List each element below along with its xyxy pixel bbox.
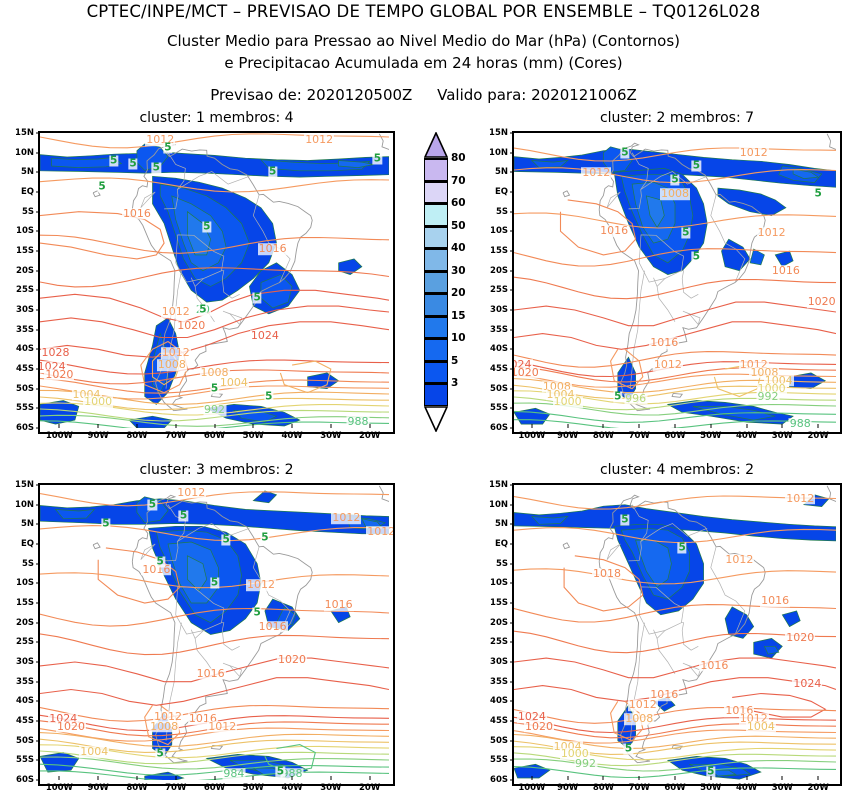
y-axis-tick <box>36 388 40 389</box>
x-axis-tick-label: 80W <box>593 431 614 441</box>
mslp-contour-line <box>40 733 389 747</box>
y-axis-tick <box>36 603 40 604</box>
colorbar-tick-label: 3 <box>451 377 458 389</box>
y-axis-tick-label: 25S <box>2 285 34 295</box>
country-border <box>607 544 620 560</box>
valid-for: Valido para: 2020121006Z <box>437 86 637 104</box>
colorbar-segment <box>424 226 448 249</box>
precipitation-shading <box>40 491 389 780</box>
y-axis-tick-label: 50S <box>2 736 34 746</box>
precipitation-contour-fill <box>514 408 550 424</box>
mslp-contour-label: 1020 <box>56 721 86 733</box>
y-axis-tick-label: 40S <box>2 344 34 354</box>
y-axis-tick <box>510 231 514 232</box>
y-axis-tick <box>510 172 514 173</box>
subtitle-line-1: Cluster Medio para Pressao ao Nivel Medi… <box>0 32 847 50</box>
y-axis-tick-label: 35S <box>476 325 508 335</box>
precipitation-contour-fill <box>782 611 800 627</box>
x-axis-tick <box>710 776 711 780</box>
y-axis-tick-label: 25S <box>2 637 34 647</box>
colorbar-under-arrow <box>424 406 448 432</box>
colorbar-tick-label: 30 <box>451 265 466 277</box>
mslp-contour-label: 1012 <box>757 228 787 240</box>
x-axis-tick <box>567 424 568 428</box>
colorbar-tick-label: 70 <box>451 175 466 187</box>
panel-title-cluster-4: cluster: 4 membros: 2 <box>512 462 842 478</box>
y-axis-tick-label: 5N <box>476 167 508 177</box>
x-axis-tick-label: 100W <box>518 431 545 441</box>
mslp-contour-label: 1012 <box>785 493 815 505</box>
precipitation-contour-fill <box>40 753 79 773</box>
x-axis-tick-label: 30W <box>320 783 341 793</box>
precipitation-contour-label: 5 <box>202 222 211 233</box>
x-axis-tick-label: 40W <box>736 431 757 441</box>
map-panel-cluster-2[interactable]: 1012101210081016101210161020101610241020… <box>512 131 842 434</box>
x-axis-tick <box>639 776 640 780</box>
mslp-contour-label: 1004 <box>79 747 109 759</box>
colorbar-tick-label: 60 <box>451 197 466 209</box>
y-axis-tick <box>510 583 514 584</box>
mslp-contour-label: 1028 <box>41 347 71 359</box>
x-axis-tick <box>98 424 99 428</box>
y-axis-tick-label: 5S <box>476 207 508 217</box>
mslp-contour-line <box>40 492 389 506</box>
x-axis-tick <box>639 424 640 428</box>
y-axis-tick-label: 5S <box>2 207 34 217</box>
coastline <box>672 393 682 397</box>
precipitation-contour-label: 5 <box>268 167 277 178</box>
mslp-contour-label: 992 <box>757 391 780 403</box>
precipitation-contour-label: 5 <box>156 556 165 567</box>
mslp-contour-label: 996 <box>624 393 647 405</box>
y-axis-tick-label: 10S <box>476 226 508 236</box>
y-axis-tick <box>510 721 514 722</box>
y-axis-tick <box>36 369 40 370</box>
map-panel-cluster-4[interactable]: 1012101210181016102010161024101610121008… <box>512 483 842 786</box>
y-axis-tick-label: 15N <box>476 480 508 490</box>
x-axis-tick <box>675 776 676 780</box>
y-axis-tick <box>510 563 514 564</box>
colorbar-tick <box>424 383 448 385</box>
colorbar-segment <box>424 248 448 271</box>
y-axis-tick <box>510 544 514 545</box>
x-axis-tick-label: 60W <box>664 431 685 441</box>
y-axis-tick-label: 30S <box>476 657 508 667</box>
x-axis-tick-label: 70W <box>165 431 186 441</box>
mslp-contour-label: 1020 <box>785 633 815 645</box>
colorbar-tick <box>424 361 448 363</box>
x-axis-tick <box>603 424 604 428</box>
y-axis-tick <box>36 428 40 429</box>
y-axis-tick <box>510 133 514 134</box>
x-axis-tick-label: 20W <box>359 431 380 441</box>
y-axis-tick <box>510 369 514 370</box>
x-axis-tick-label: 90W <box>557 431 578 441</box>
y-axis-tick-label: 15S <box>2 246 34 256</box>
mslp-contour-label: 1016 <box>324 599 354 611</box>
x-axis-tick <box>746 776 747 780</box>
y-axis-tick <box>36 524 40 525</box>
y-axis-tick-label: 15N <box>476 128 508 138</box>
x-axis-tick <box>675 424 676 428</box>
precipitation-contour-label: 5 <box>252 293 261 304</box>
precipitation-contour-fill <box>253 491 276 503</box>
precipitation-contour-label: 5 <box>210 383 219 394</box>
y-axis-tick <box>510 681 514 682</box>
x-axis-tick-label: 90W <box>88 431 109 441</box>
y-axis-tick <box>510 211 514 212</box>
y-axis-tick-label: 5N <box>2 519 34 529</box>
map-panel-cluster-1[interactable]: 1012101210161016101220102010241028102410… <box>38 131 395 434</box>
y-axis-tick <box>510 290 514 291</box>
y-axis-tick <box>36 329 40 330</box>
mslp-contour-label: 1024 <box>250 330 280 342</box>
mslp-contour-label: 1012 <box>724 554 754 566</box>
x-axis-tick <box>136 424 137 428</box>
precipitation-contour-label: 5 <box>179 511 188 522</box>
x-axis-tick <box>818 424 819 428</box>
y-axis-tick-label: 40S <box>476 344 508 354</box>
y-axis-tick <box>36 290 40 291</box>
coastline <box>563 543 570 549</box>
y-axis-tick <box>36 563 40 564</box>
x-axis-tick-label: 100W <box>518 783 545 793</box>
coastline <box>563 191 570 197</box>
x-axis-tick-label: 80W <box>126 431 147 441</box>
precipitation-contour-label: 5 <box>221 535 230 546</box>
colorbar-segment <box>424 361 448 384</box>
y-axis-tick <box>36 642 40 643</box>
y-axis-tick-label: 55S <box>2 755 34 765</box>
x-axis-tick <box>531 424 532 428</box>
x-axis-tick-label: 100W <box>46 783 73 793</box>
mslp-contour-label: 1016 <box>122 208 152 220</box>
y-axis-tick-label: 30S <box>476 305 508 315</box>
mslp-contour-line <box>514 723 836 738</box>
y-axis-tick-label: 45S <box>476 716 508 726</box>
precipitation-contour-label: 5 <box>620 515 629 526</box>
y-axis-tick-label: EQ <box>2 539 34 549</box>
x-axis-tick <box>369 424 370 428</box>
x-axis-tick-label: 40W <box>281 783 302 793</box>
mslp-contour-label: 992 <box>203 405 226 417</box>
y-axis-tick-label: 10N <box>2 500 34 510</box>
colorbar-over-arrow <box>424 132 448 158</box>
mslp-contour-label: 1000 <box>553 397 583 409</box>
precipitation-contour-label: 5 <box>101 519 110 530</box>
mslp-contour-line <box>40 134 389 148</box>
y-axis-tick-label: 50S <box>476 736 508 746</box>
y-axis-tick <box>36 192 40 193</box>
y-axis-tick-label: 40S <box>2 696 34 706</box>
mslp-contour-label: 1012 <box>246 580 276 592</box>
precipitation-contour-label: 5 <box>373 153 382 164</box>
precipitation-contour-fill <box>145 772 184 780</box>
precipitation-contour-label: 5 <box>210 578 219 589</box>
x-axis-tick-label: 50W <box>700 431 721 441</box>
y-axis-tick-label: 10N <box>476 500 508 510</box>
mslp-contour-label: 1016 <box>649 338 679 350</box>
y-axis-tick <box>36 172 40 173</box>
x-axis-tick-label: 80W <box>126 783 147 793</box>
y-axis-tick-label: 50S <box>2 384 34 394</box>
y-axis-tick <box>36 251 40 252</box>
x-axis-tick <box>98 776 99 780</box>
y-axis-tick <box>36 662 40 663</box>
mslp-contour-label: 1016 <box>258 243 288 255</box>
precipitation-contour-fill <box>718 188 786 216</box>
precipitation-contour-fill <box>790 373 826 389</box>
mslp-contour-label: 1012 <box>739 147 769 159</box>
mslp-contour-label: 1008 <box>624 713 654 725</box>
x-axis-tick-label: 50W <box>700 783 721 793</box>
precipitation-contour-label: 5 <box>813 188 822 199</box>
y-axis-tick-label: 35S <box>2 325 34 335</box>
y-axis-tick-label: 35S <box>2 677 34 687</box>
precipitation-contour-label: 5 <box>198 304 207 315</box>
x-axis-tick-label: 30W <box>320 431 341 441</box>
x-axis-tick <box>782 424 783 428</box>
mslp-contour-label: 1020 <box>176 320 206 332</box>
colorbar-segment <box>424 158 448 181</box>
y-axis-tick <box>510 251 514 252</box>
precipitation-contour-label: 5 <box>620 147 629 158</box>
x-axis-tick-label: 80W <box>593 783 614 793</box>
x-axis-tick <box>746 424 747 428</box>
y-axis-tick-label: 20S <box>476 618 508 628</box>
mslp-contour-line <box>40 322 389 357</box>
mslp-contour-label: 1016 <box>699 660 729 672</box>
y-axis-tick-label: EQ <box>2 187 34 197</box>
country-border <box>681 271 698 299</box>
x-axis-tick-label: 90W <box>557 783 578 793</box>
y-axis-tick <box>510 270 514 271</box>
subtitle-line-2: e Precipitacao Acumulada em 24 horas (mm… <box>0 54 847 72</box>
x-axis-tick-label: 30W <box>772 783 793 793</box>
mslp-contour-label: 988 <box>346 416 369 428</box>
y-axis-tick <box>510 485 514 486</box>
x-axis-tick-label: 50W <box>243 783 264 793</box>
colorbar-tick <box>424 293 448 295</box>
x-axis-tick <box>292 776 293 780</box>
x-axis-tick-label: 40W <box>736 783 757 793</box>
mslp-contour-label: 1020 <box>277 654 307 666</box>
mslp-contour-label: 1012 <box>628 699 658 711</box>
precipitation-contour-fill <box>722 239 751 271</box>
country-border <box>657 638 675 673</box>
precipitation-contour-label: 5 <box>252 607 261 618</box>
mslp-contour-line <box>514 708 836 724</box>
y-axis-tick <box>510 504 514 505</box>
colorbar-segment <box>424 203 448 226</box>
x-axis-tick-label: 20W <box>808 783 829 793</box>
precipitation-contour-label: 5 <box>692 161 701 172</box>
y-axis-tick <box>510 408 514 409</box>
colorbar-tick <box>424 271 448 273</box>
y-axis-tick-label: 35S <box>476 677 508 687</box>
precipitation-contour-label: 5 <box>163 142 172 153</box>
x-axis-tick <box>603 776 604 780</box>
y-axis-tick <box>36 408 40 409</box>
y-axis-tick <box>36 485 40 486</box>
map-panel-cluster-3[interactable]: 1012101210121016101210161016102010161024… <box>38 483 395 786</box>
y-axis-tick <box>36 760 40 761</box>
y-axis-tick-label: 55S <box>476 403 508 413</box>
y-axis-tick <box>36 780 40 781</box>
colorbar-tick <box>424 203 448 205</box>
y-axis-tick-label: 20S <box>2 266 34 276</box>
mslp-contour-label: 1016 <box>599 226 629 238</box>
x-axis-tick <box>214 424 215 428</box>
country-border <box>607 192 620 208</box>
x-axis-tick <box>330 424 331 428</box>
y-axis-tick-label: 25S <box>476 285 508 295</box>
colorbar-tick <box>424 158 448 160</box>
x-axis-tick-label: 100W <box>46 431 73 441</box>
x-axis-tick-label: 50W <box>243 431 264 441</box>
coastline <box>379 486 389 678</box>
y-axis-tick <box>36 583 40 584</box>
x-axis-tick <box>369 776 370 780</box>
mslp-contour-label: 1012 <box>653 359 683 371</box>
y-axis-tick-label: 60S <box>2 775 34 785</box>
y-axis-tick-label: 30S <box>2 305 34 315</box>
mslp-contour-label: 1016 <box>771 265 801 277</box>
y-axis-tick <box>36 270 40 271</box>
x-axis-tick-label: 70W <box>629 431 650 441</box>
y-axis-tick <box>510 329 514 330</box>
precipitation-contour-label: 5 <box>97 182 106 193</box>
y-axis-tick <box>510 740 514 741</box>
y-axis-tick-label: 15S <box>476 246 508 256</box>
y-axis-tick-label: 5N <box>476 519 508 529</box>
y-axis-tick <box>510 152 514 153</box>
x-axis-tick-label: 60W <box>204 431 225 441</box>
colorbar-segment <box>424 271 448 294</box>
y-axis-tick-label: 60S <box>476 423 508 433</box>
mslp-contour-line <box>40 634 389 655</box>
colorbar-segment <box>424 338 448 361</box>
mslp-contour-label: 1000 <box>83 397 113 409</box>
precipitation-contour-label: 5 <box>260 533 269 544</box>
country-border <box>681 623 698 651</box>
colorbar-segment <box>424 293 448 316</box>
y-axis-tick <box>510 780 514 781</box>
colorbar-body <box>424 158 448 406</box>
precipitation-contour-label: 5 <box>613 391 622 402</box>
colorbar: 35101520304050607080 <box>424 132 448 432</box>
forecast-dates: Previsao de: 2020120500Z Valido para: 20… <box>0 86 847 104</box>
x-axis-tick-label: 20W <box>359 783 380 793</box>
x-axis-tick <box>782 776 783 780</box>
x-axis-tick-label: 30W <box>772 431 793 441</box>
y-axis-tick-label: 45S <box>2 716 34 726</box>
y-axis-tick-label: 50S <box>476 384 508 394</box>
mslp-contour-label: 1020 <box>807 296 837 308</box>
x-axis-tick-label: 40W <box>281 431 302 441</box>
precipitation-contour-label: 5 <box>677 542 686 553</box>
y-axis-tick <box>510 192 514 193</box>
x-axis-tick <box>59 424 60 428</box>
y-axis-tick-label: 5N <box>2 167 34 177</box>
y-axis-tick <box>510 760 514 761</box>
mslp-contour-line <box>40 678 389 706</box>
y-axis-tick <box>36 740 40 741</box>
y-axis-tick <box>36 701 40 702</box>
y-axis-tick <box>510 388 514 389</box>
mslp-contour-line <box>514 302 836 326</box>
coastline <box>93 543 100 549</box>
mslp-contour-label: 1020 <box>524 721 554 733</box>
colorbar-tick-label: 50 <box>451 220 466 232</box>
colorbar-segment <box>424 181 448 204</box>
y-axis-tick <box>36 622 40 623</box>
y-axis-tick-label: 30S <box>2 657 34 667</box>
mslp-contour-label: 992 <box>574 758 597 770</box>
precipitation-contour-label: 5 <box>264 391 273 402</box>
y-axis-tick <box>510 642 514 643</box>
y-axis-tick <box>510 524 514 525</box>
mslp-contour-label: 1012 <box>207 721 237 733</box>
y-axis-tick <box>36 231 40 232</box>
y-axis-tick <box>36 310 40 311</box>
y-axis-tick-label: 45S <box>2 364 34 374</box>
map-canvas <box>40 485 389 780</box>
y-axis-tick-label: 5S <box>476 559 508 569</box>
x-axis-tick <box>59 776 60 780</box>
y-axis-tick-label: 15S <box>2 598 34 608</box>
colorbar-segment <box>424 316 448 339</box>
x-axis-tick <box>175 776 176 780</box>
x-axis-tick-label: 90W <box>88 783 109 793</box>
mslp-contour-label: 1012 <box>176 487 206 499</box>
panel-title-cluster-1: cluster: 1 membros: 4 <box>38 110 395 126</box>
x-axis-tick-label: 70W <box>165 783 186 793</box>
mslp-contour-label: 1008 <box>149 721 179 733</box>
y-axis-tick <box>510 662 514 663</box>
mslp-contour-label: 1008 <box>660 188 690 200</box>
y-axis-tick-label: 20S <box>2 618 34 628</box>
y-axis-tick-label: 60S <box>476 775 508 785</box>
mslp-contour-label: 1020 <box>44 369 74 381</box>
colorbar-tick <box>424 226 448 228</box>
x-axis-tick <box>136 776 137 780</box>
mslp-contour-line <box>514 277 836 299</box>
x-axis-tick <box>253 424 254 428</box>
colorbar-tick-label: 80 <box>451 152 466 164</box>
mslp-contour-label: 1016 <box>760 595 790 607</box>
mslp-contour-label: 1024 <box>792 678 822 690</box>
precipitation-contour-label: 5 <box>276 767 285 778</box>
x-axis-tick <box>567 776 568 780</box>
coastline <box>827 486 836 678</box>
x-axis-tick <box>531 776 532 780</box>
y-axis-tick-label: 15N <box>2 128 34 138</box>
y-axis-tick <box>36 721 40 722</box>
precipitation-contour-label: 5 <box>681 228 690 239</box>
y-axis-tick <box>510 622 514 623</box>
colorbar-segment <box>424 383 448 406</box>
precipitation-contour-label: 5 <box>152 163 161 174</box>
mslp-contour-label: 1004 <box>746 721 776 733</box>
mslp-contour-label: 1012 <box>581 167 611 179</box>
x-axis-tick <box>818 776 819 780</box>
x-axis-tick-label: 60W <box>204 783 225 793</box>
y-axis-tick <box>510 428 514 429</box>
y-axis-tick-label: 60S <box>2 423 34 433</box>
mslp-contour-label: 1008 <box>157 359 187 371</box>
mslp-contour-line <box>514 658 836 678</box>
